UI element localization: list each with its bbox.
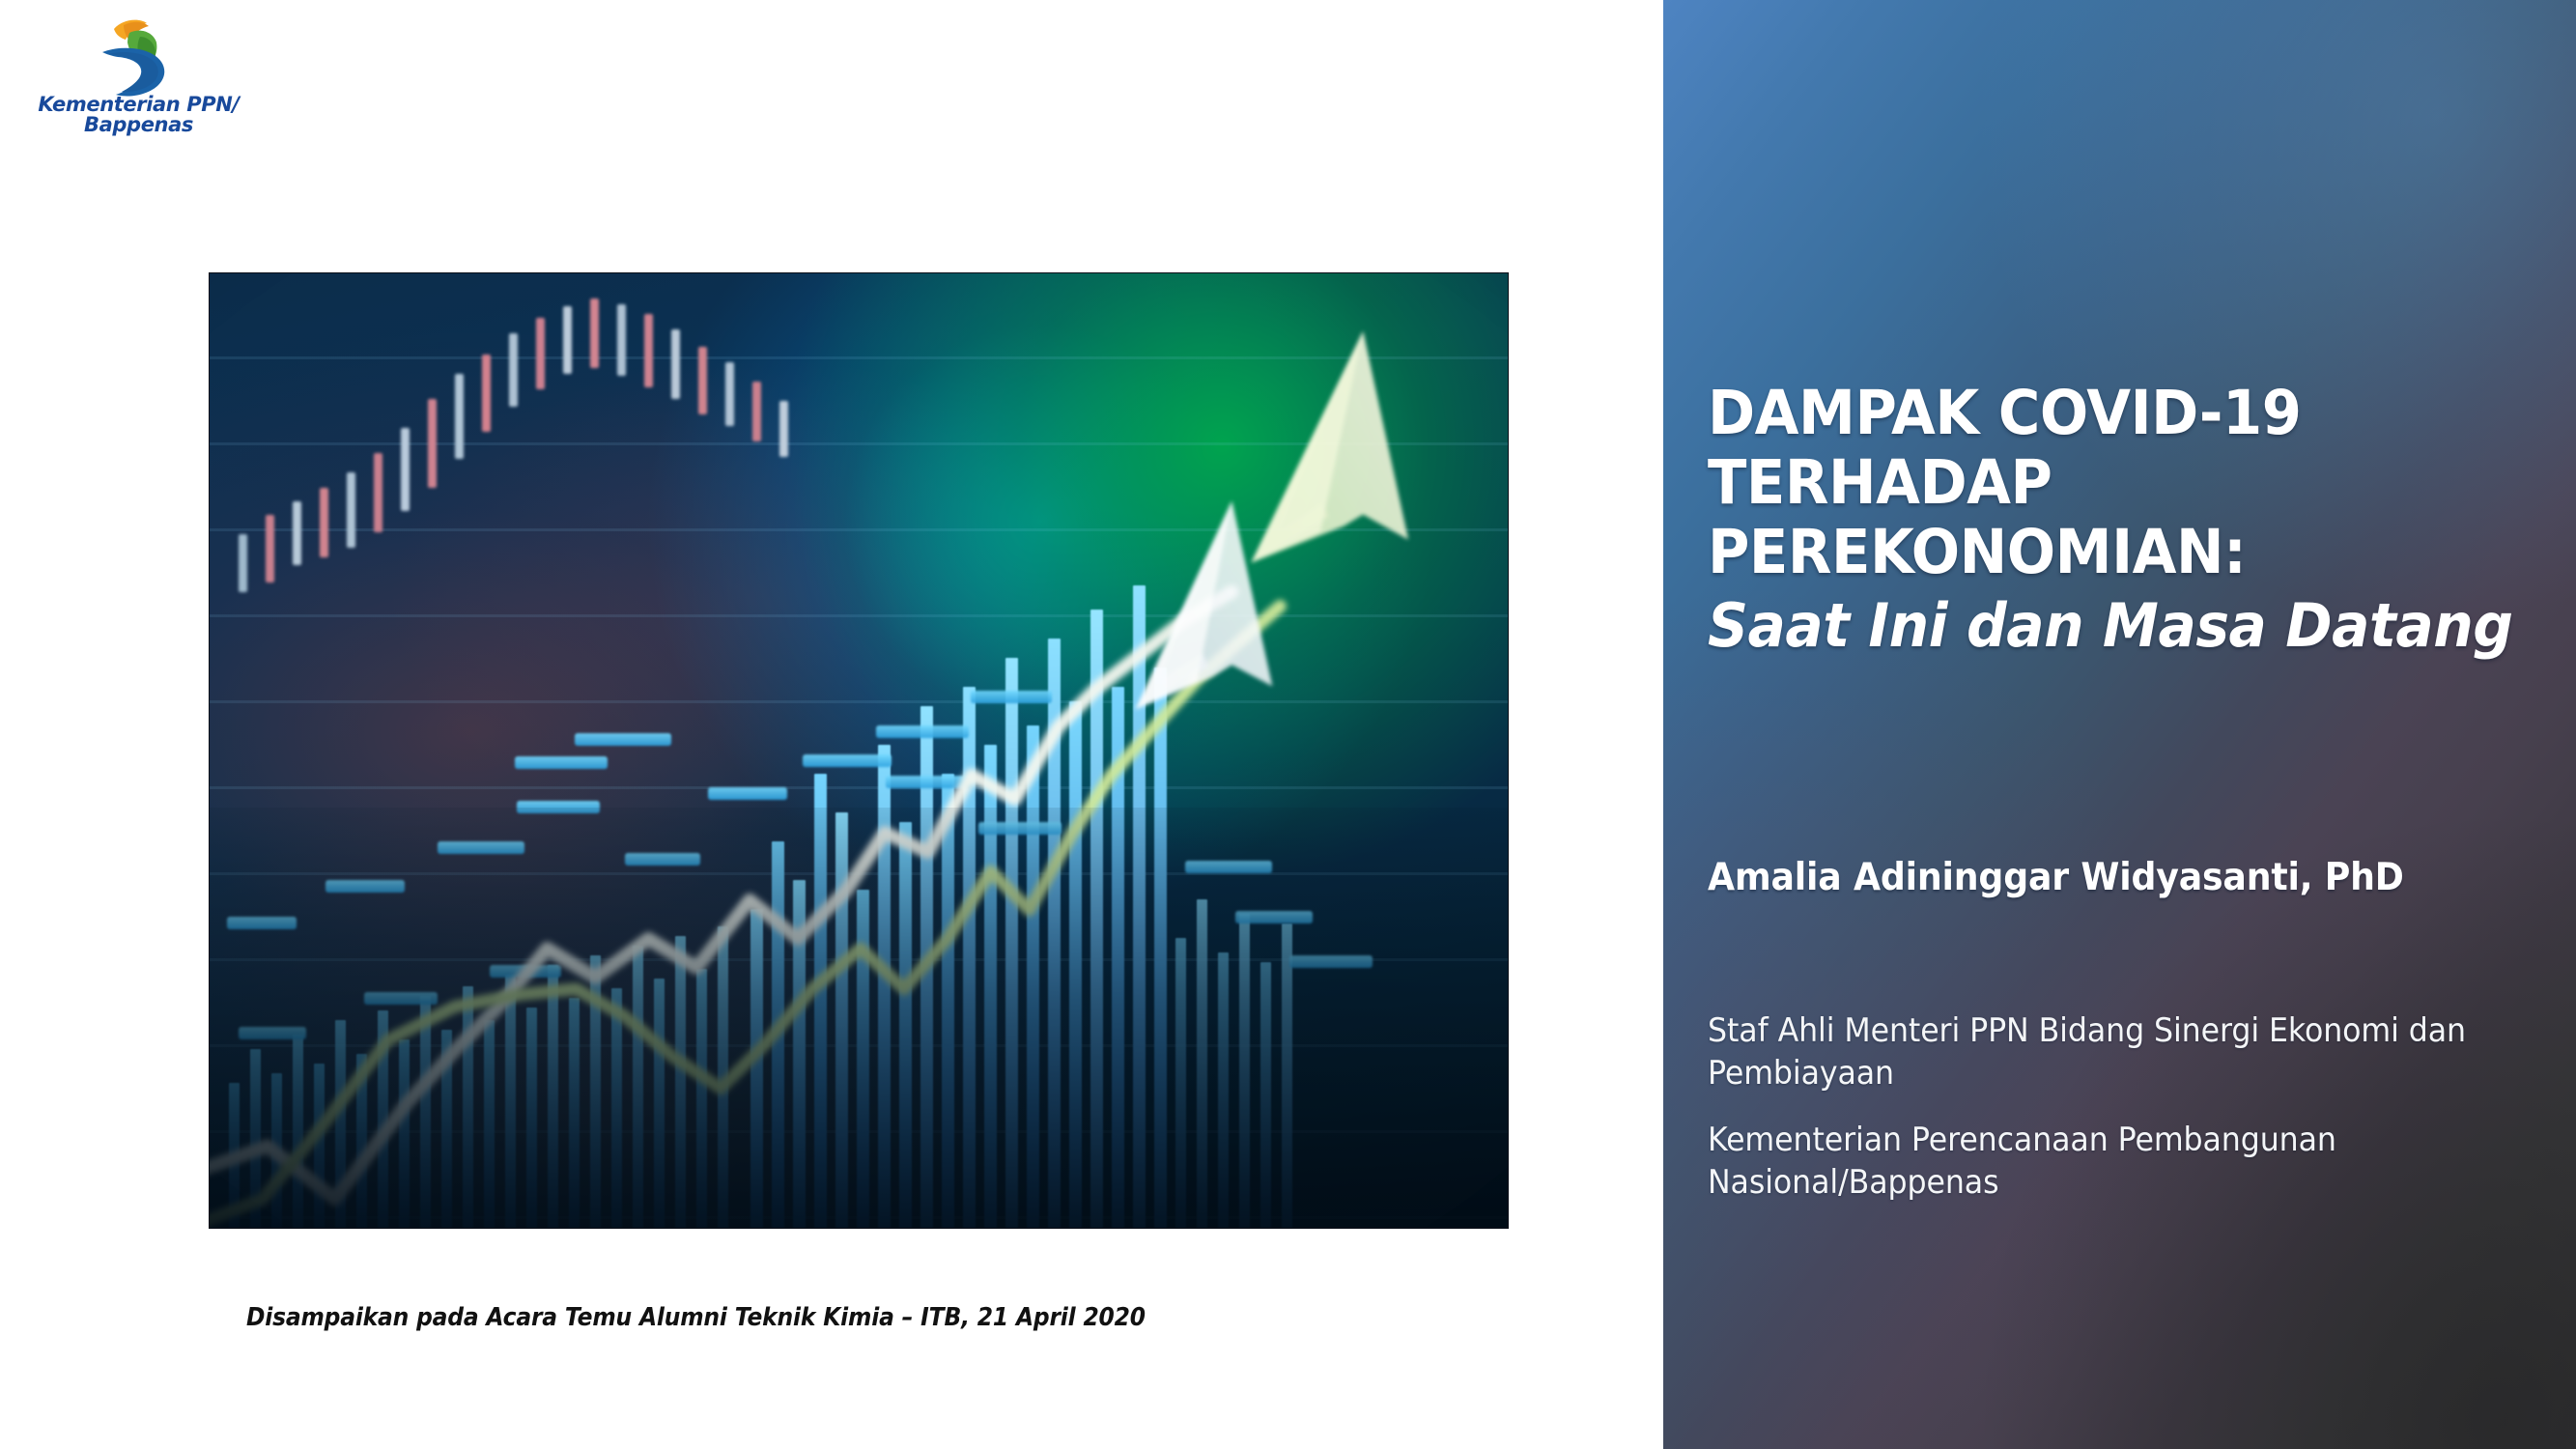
logo-line-1: Kementerian PPN/ bbox=[38, 93, 239, 116]
panel-color-tint bbox=[1642, 0, 2576, 1449]
page-title: DAMPAK COVID-19 TERHADAP PEREKONOMIAN: S… bbox=[1708, 379, 2548, 661]
photo-vignette bbox=[210, 273, 1508, 1228]
logo-wordmark: Kementerian PPN/ Bappenas bbox=[35, 95, 242, 136]
logo-line-2: Bappenas bbox=[35, 115, 242, 135]
title-line-2: TERHADAP bbox=[1708, 448, 2498, 518]
slide-footer-caption: Disampaikan pada Acara Temu Alumni Tekni… bbox=[246, 1303, 1146, 1332]
torn-paper-edge bbox=[1642, 0, 1663, 1449]
speaker-affiliation: Staf Ahli Menteri PPN Bidang Sinergi Eko… bbox=[1708, 1010, 2538, 1204]
title-line-1: DAMPAK COVID-19 bbox=[1708, 379, 2498, 448]
affiliation-line-1: Staf Ahli Menteri PPN Bidang Sinergi Eko… bbox=[1708, 1010, 2480, 1094]
kementerian-ppn-bappenas-logo: Kementerian PPN/ Bappenas bbox=[35, 14, 242, 134]
affiliation-line-2: Kementerian Perencanaan Pembangunan Nasi… bbox=[1708, 1120, 2480, 1204]
presentation-slide: Kementerian PPN/ Bappenas bbox=[0, 0, 2576, 1449]
page-subtitle: Saat Ini dan Masa Datang bbox=[1708, 592, 2498, 661]
title-panel: DAMPAK COVID-19 TERHADAP PEREKONOMIAN: S… bbox=[1642, 0, 2576, 1449]
financial-market-chart-photo bbox=[209, 272, 1509, 1229]
title-line-3: PEREKONOMIAN: bbox=[1708, 518, 2498, 587]
bappenas-emblem-icon bbox=[79, 14, 195, 100]
speaker-name: Amalia Adininggar Widyasanti, PhD bbox=[1708, 856, 2498, 899]
